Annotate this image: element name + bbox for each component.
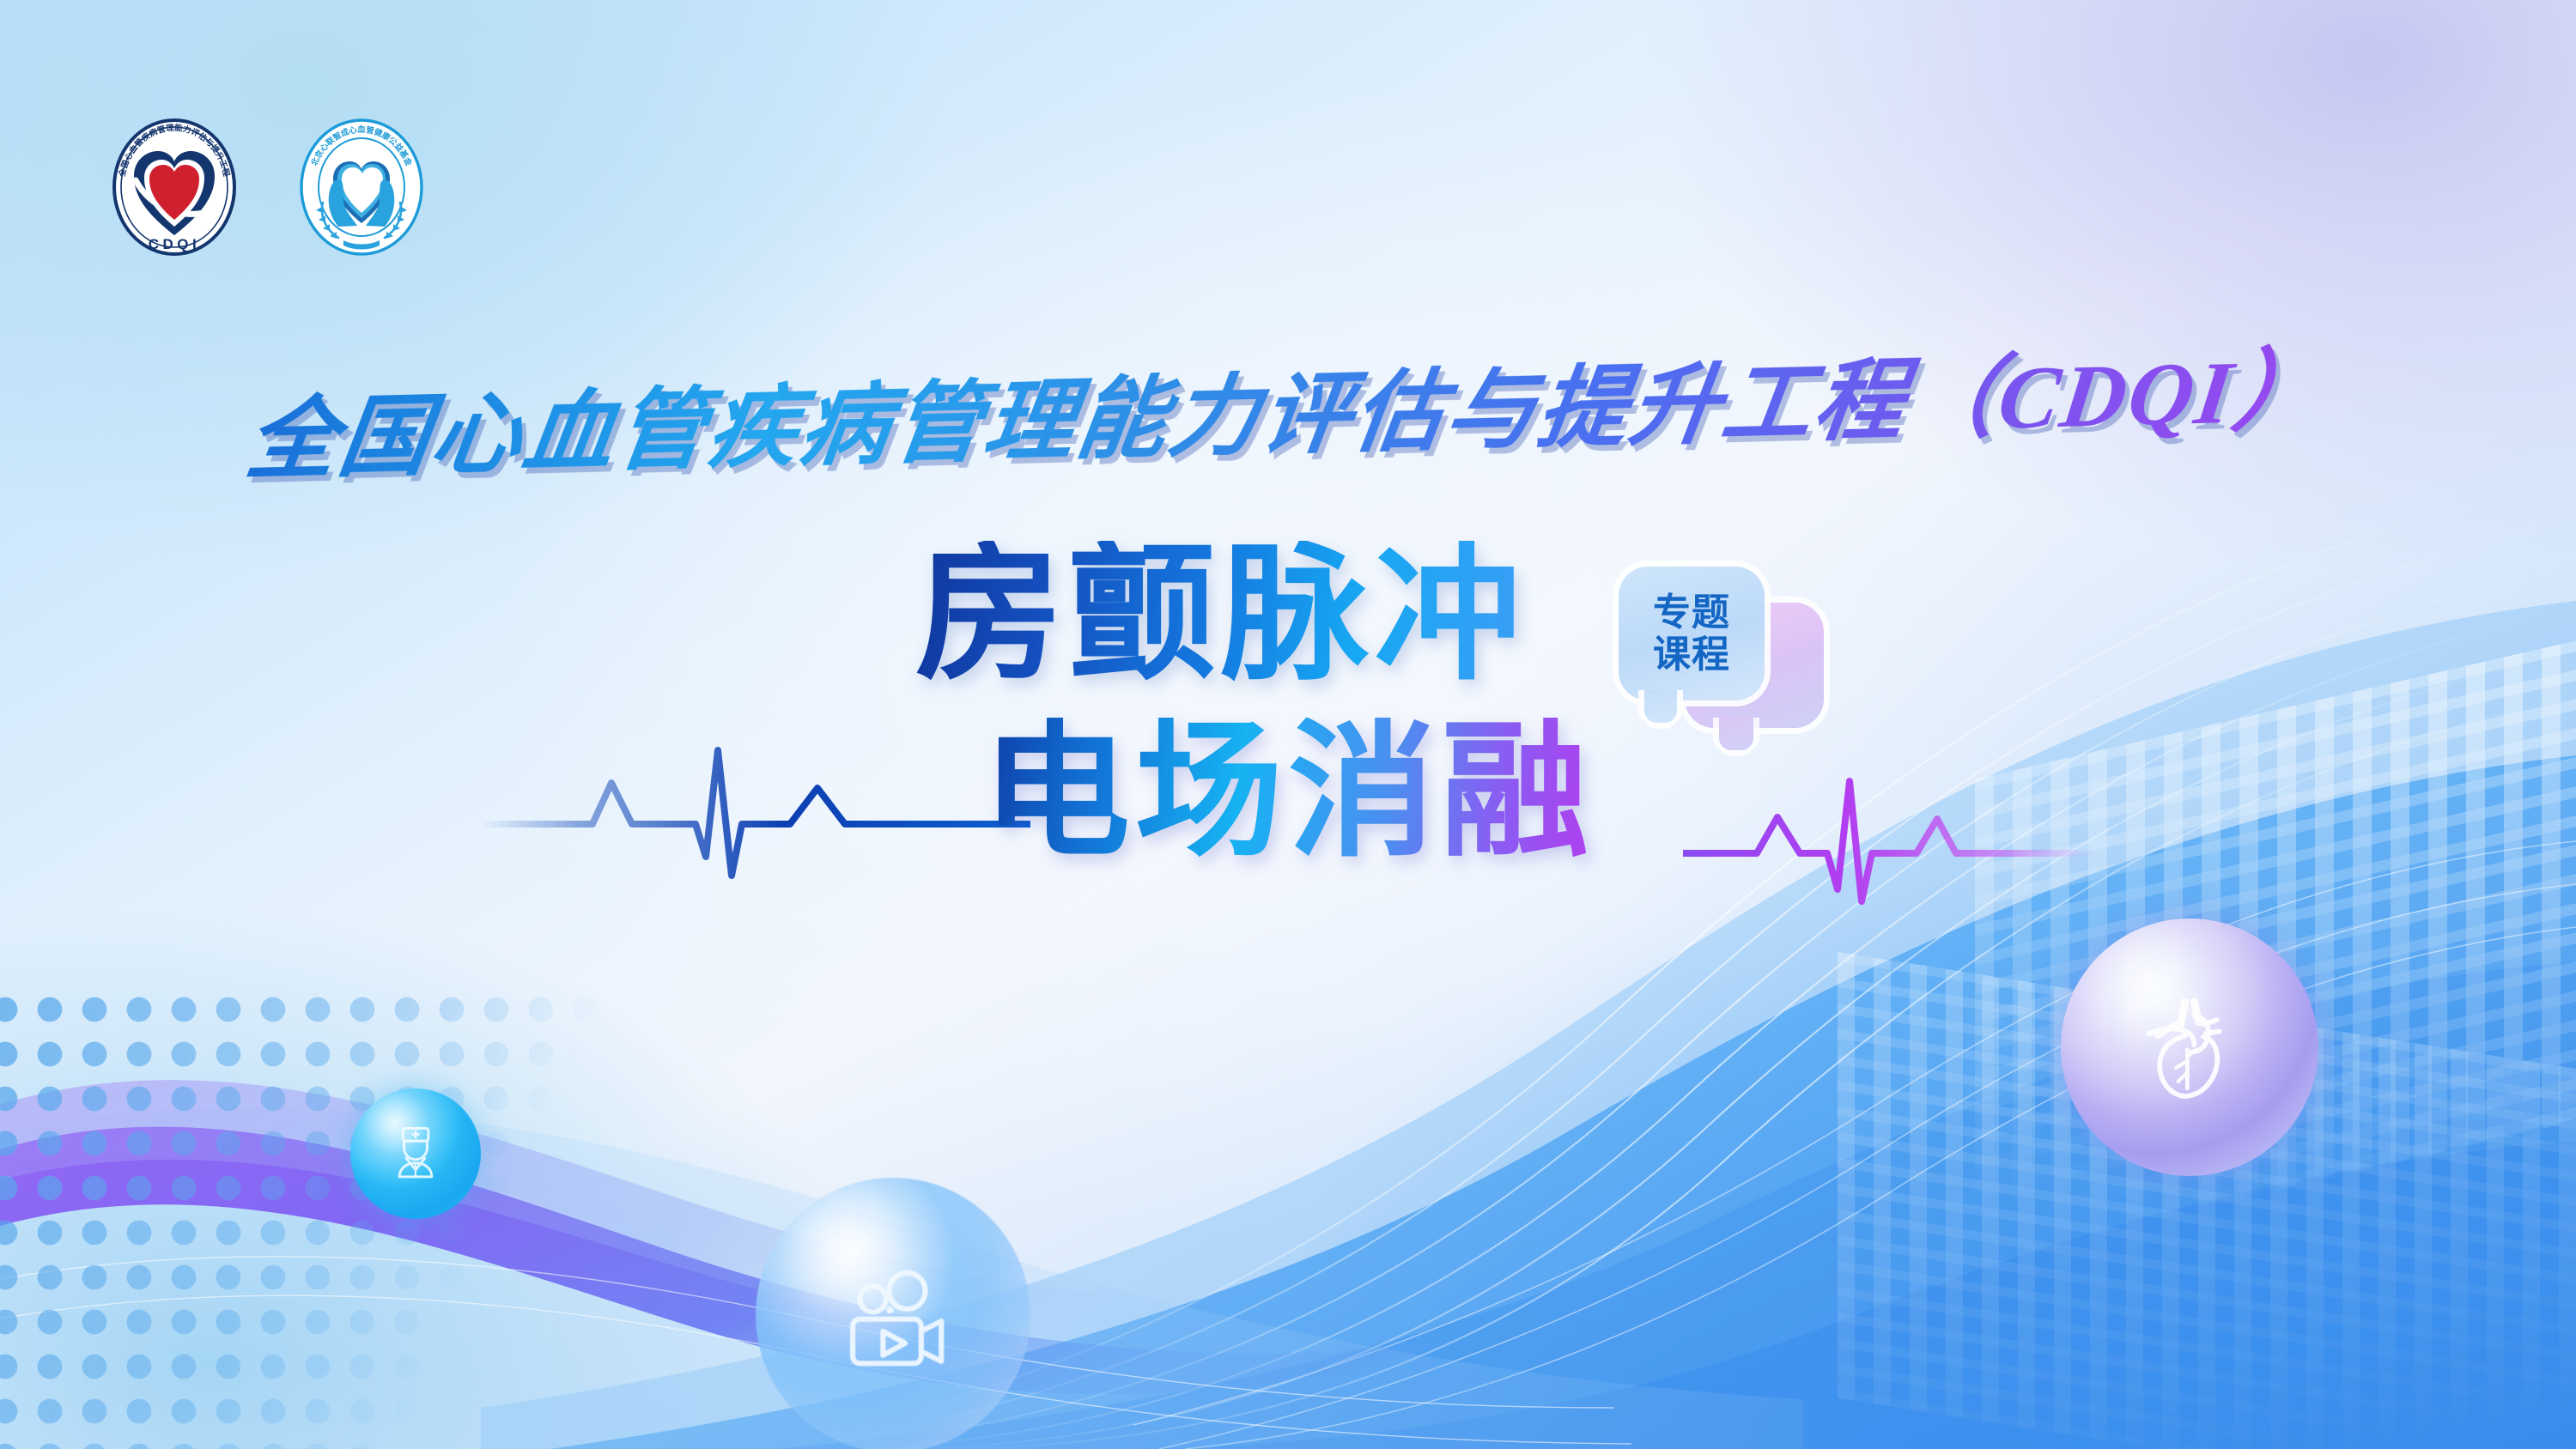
course-badge[interactable]: 专题 课程 bbox=[1614, 558, 1838, 755]
cdqi-logo[interactable]: 全国心血管疾病管理能力评估与提升工程 CDQI bbox=[101, 101, 247, 269]
headline-block: 房颤脉冲 电场消融 bbox=[0, 541, 2576, 865]
badge-line-2: 课程 bbox=[1653, 634, 1730, 676]
sphere-video bbox=[756, 1178, 1030, 1449]
sphere-heart bbox=[2061, 919, 2318, 1176]
sphere-doctor bbox=[350, 1088, 481, 1219]
video-camera-icon bbox=[829, 1251, 957, 1379]
foundation-logo[interactable]: 北京心联智成心血管健康公益基金 bbox=[289, 101, 434, 269]
halftone-dots bbox=[0, 987, 635, 1449]
headline-line-1: 房颤脉冲 bbox=[915, 541, 1527, 688]
foundation-logo-icon: 北京心联智成心血管健康公益基金 bbox=[289, 101, 434, 264]
badge-text: 专题 课程 bbox=[1653, 591, 1730, 676]
badge-bubble-front: 专题 课程 bbox=[1619, 567, 1765, 700]
headline-line-2: 电场消融 bbox=[982, 718, 1594, 865]
badge-line-1: 专题 bbox=[1653, 591, 1730, 634]
headline-row-1: 房颤脉冲 bbox=[0, 541, 2576, 688]
cdqi-acronym: CDQI bbox=[149, 236, 201, 252]
headline-row-2: 电场消融 bbox=[0, 718, 2576, 865]
promo-banner: 全国心血管疾病管理能力评估与提升工程 CDQI bbox=[0, 0, 2576, 1449]
sphere-gloss bbox=[350, 1088, 481, 1219]
logo-group: 全国心血管疾病管理能力评估与提升工程 CDQI bbox=[101, 101, 434, 269]
cdqi-logo-icon: 全国心血管疾病管理能力评估与提升工程 CDQI bbox=[101, 101, 247, 264]
program-title: 全国心血管疾病管理能力评估与提升工程（CDQI） bbox=[0, 310, 2576, 502]
anatomical-heart-icon bbox=[2117, 974, 2263, 1120]
